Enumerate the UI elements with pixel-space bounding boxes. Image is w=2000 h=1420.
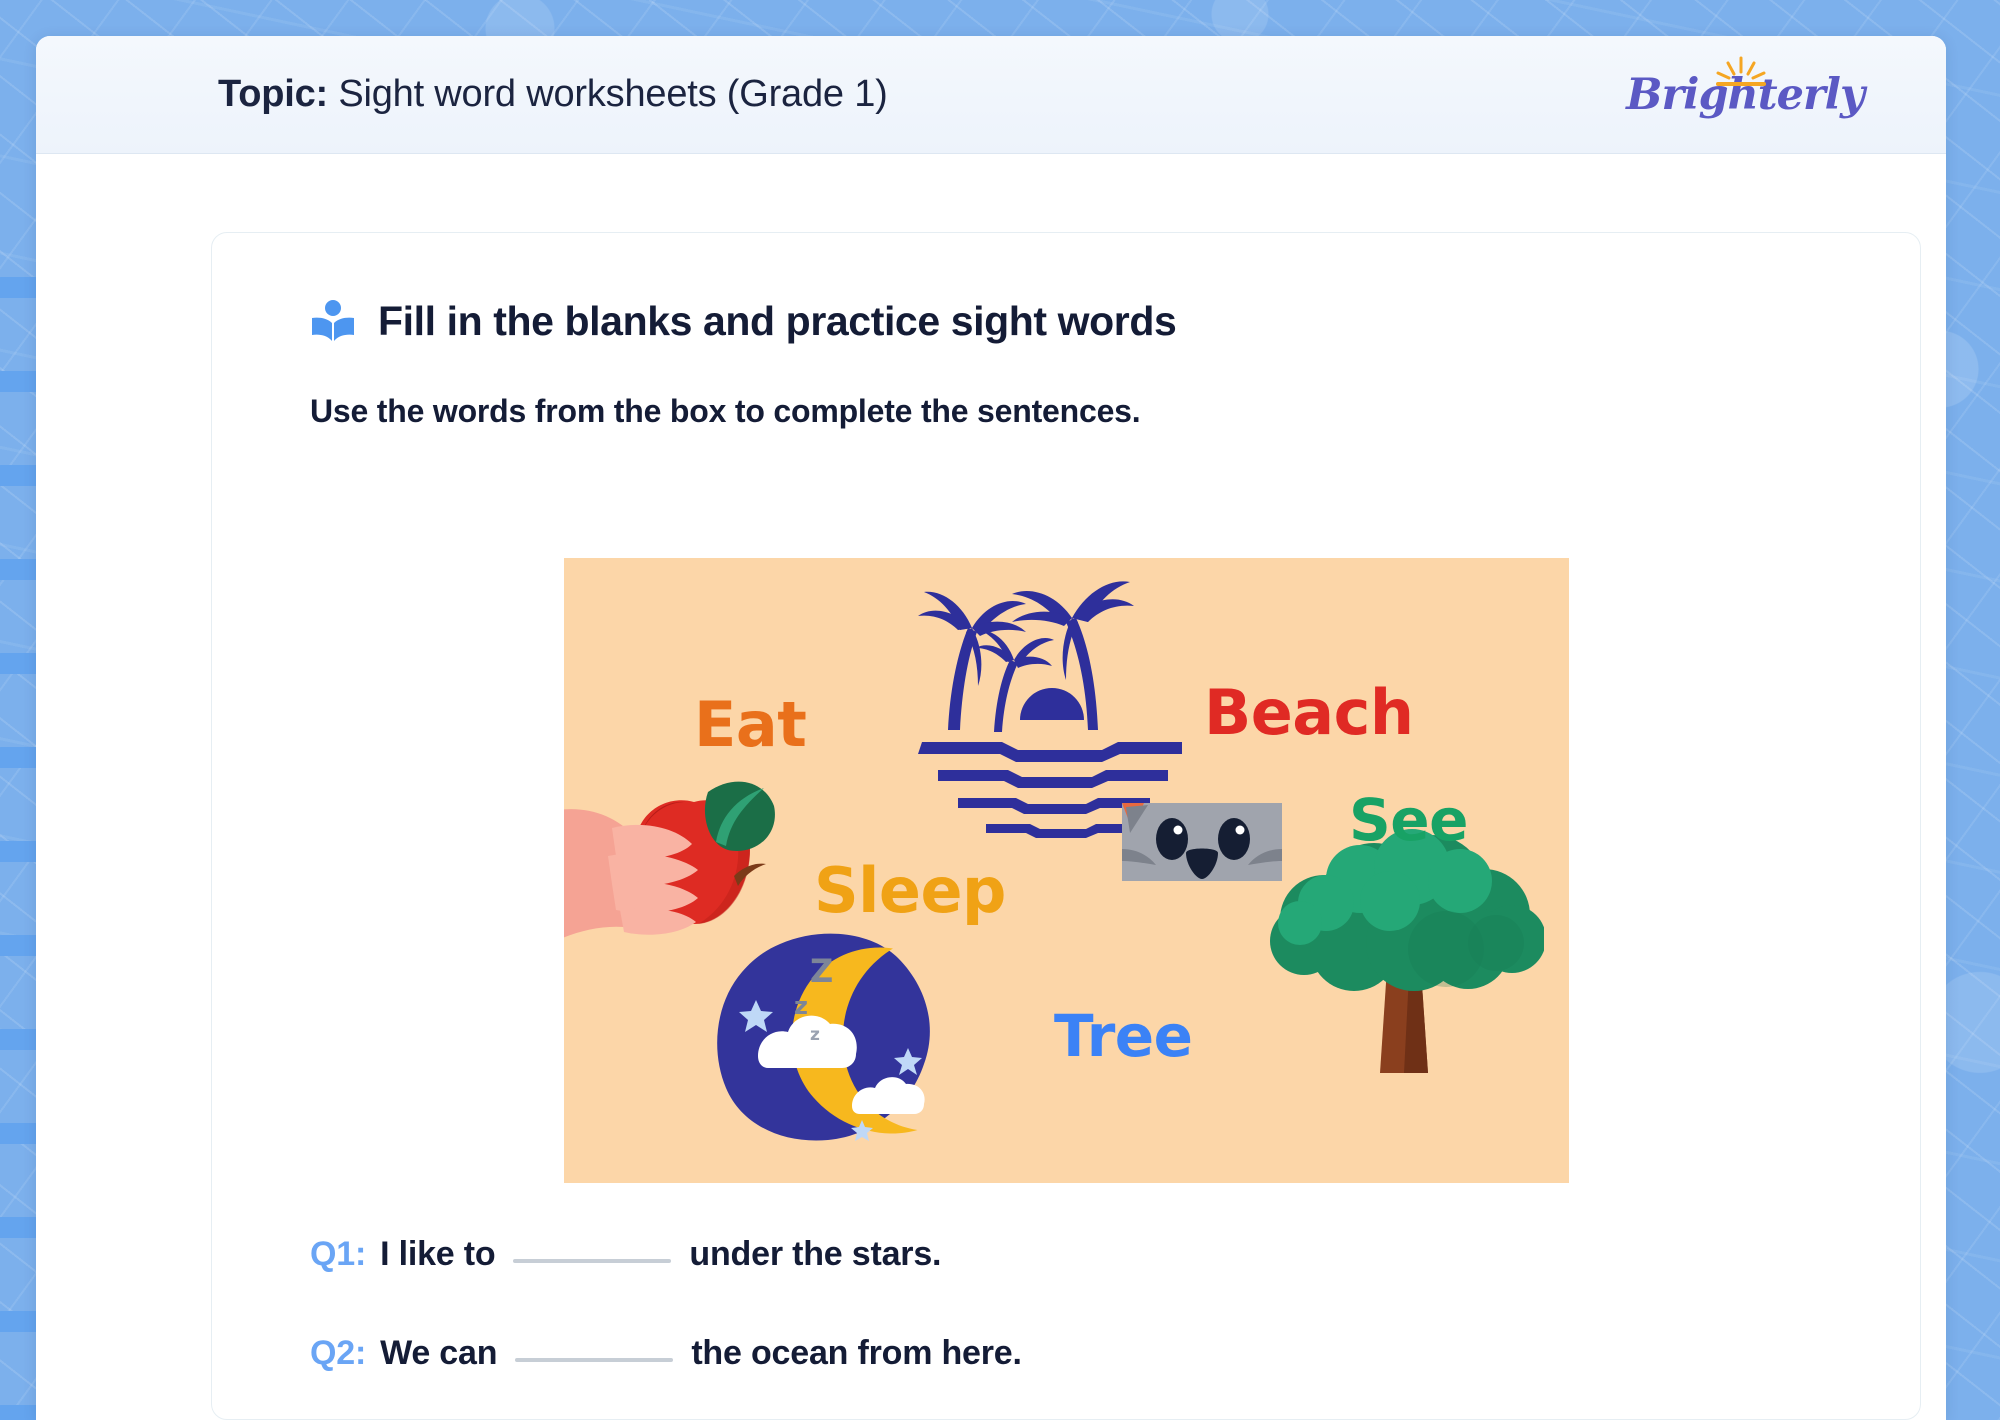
worksheet-sheet: Topic: Sight word worksheets (Grade 1) B… bbox=[36, 36, 1946, 1420]
answer-blank-q2[interactable] bbox=[515, 1358, 673, 1362]
svg-text:z: z bbox=[810, 1025, 820, 1045]
question-text-after-q1: under the stars. bbox=[689, 1235, 941, 1274]
tree-icon bbox=[1264, 823, 1544, 1073]
question-text-before-q2: We can bbox=[380, 1334, 497, 1373]
question-label-q1: Q1: bbox=[310, 1235, 366, 1274]
svg-text:Z: Z bbox=[810, 952, 833, 990]
board-word-see: See bbox=[1349, 786, 1468, 854]
brighterly-logo[interactable]: Brighterly bbox=[1626, 70, 1864, 120]
board-word-sleep: Sleep bbox=[814, 854, 1006, 927]
svg-text:z: z bbox=[794, 992, 808, 1020]
board-word-beach: Beach bbox=[1204, 676, 1414, 749]
word-board: Z z z bbox=[564, 558, 1569, 1183]
page-title: Topic: Sight word worksheets (Grade 1) bbox=[218, 73, 888, 116]
sun-burst-icon bbox=[1712, 56, 1770, 90]
beach-sunset-palm-trees-icon bbox=[902, 570, 1202, 840]
hand-holding-apple-icon bbox=[564, 758, 798, 958]
board-word-tree: Tree bbox=[1054, 1002, 1192, 1070]
topic-value: Sight word worksheets (Grade 1) bbox=[328, 73, 888, 115]
worksheet-heading-row: Fill in the blanks and practice sight wo… bbox=[310, 298, 1920, 345]
topic-label: Topic: bbox=[218, 73, 328, 115]
question-row-2: Q2: We can the ocean from here. bbox=[310, 1334, 1810, 1373]
crescent-moon-night-sleep-icon: Z z z bbox=[712, 930, 942, 1145]
question-text-after-q2: the ocean from here. bbox=[691, 1334, 1021, 1373]
open-book-icon bbox=[310, 299, 356, 345]
worksheet-header: Topic: Sight word worksheets (Grade 1) B… bbox=[36, 36, 1946, 154]
question-text-before-q1: I like to bbox=[380, 1235, 495, 1274]
question-row-1: Q1: I like to under the stars. bbox=[310, 1235, 1810, 1274]
worksheet-subheading: Use the words from the box to complete t… bbox=[310, 393, 1920, 430]
worksheet-panel: Fill in the blanks and practice sight wo… bbox=[211, 232, 1921, 1420]
question-list: Q1: I like to under the stars. Q2: We ca… bbox=[310, 1235, 1810, 1420]
cat-face-eyes-icon bbox=[1122, 803, 1282, 881]
board-word-eat: Eat bbox=[694, 688, 806, 761]
answer-blank-q1[interactable] bbox=[513, 1259, 671, 1263]
worksheet-heading: Fill in the blanks and practice sight wo… bbox=[378, 298, 1176, 345]
question-label-q2: Q2: bbox=[310, 1334, 366, 1373]
